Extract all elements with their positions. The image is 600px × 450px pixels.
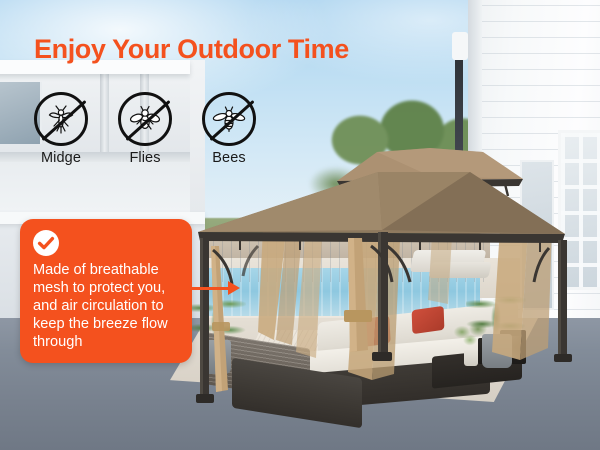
arrow-right-icon-line	[186, 287, 234, 290]
arrow-right-icon-head	[228, 281, 240, 295]
accent-pillow-secondary	[412, 306, 445, 334]
feature-callout: Made of breathable mesh to protect you, …	[20, 219, 192, 363]
check-circle-icon	[33, 230, 59, 256]
house-right-dark-slot	[455, 54, 463, 204]
feature-badges: Midge Flies	[28, 92, 262, 166]
badge-midge: Midge	[28, 92, 94, 166]
badge-bees: Bees	[196, 92, 262, 166]
marketing-image: Enjoy Your Outdoor Time Midge	[0, 0, 600, 450]
page-title: Enjoy Your Outdoor Time	[34, 34, 349, 65]
potted-palm-left-pot	[201, 340, 231, 374]
no-flies-icon	[118, 92, 172, 146]
potted-palm-right-pot	[482, 334, 512, 368]
house-right-capsule	[452, 32, 468, 60]
badge-label: Flies	[129, 150, 160, 166]
badge-flies: Flies	[112, 92, 178, 166]
badge-label: Midge	[41, 150, 81, 166]
house-right-window-grid	[558, 130, 600, 290]
badge-label: Bees	[212, 150, 245, 166]
callout-text: Made of breathable mesh to protect you, …	[33, 261, 179, 351]
no-midge-icon	[34, 92, 88, 146]
pool-lounger-secondary	[428, 262, 491, 278]
no-bees-icon	[202, 92, 256, 146]
